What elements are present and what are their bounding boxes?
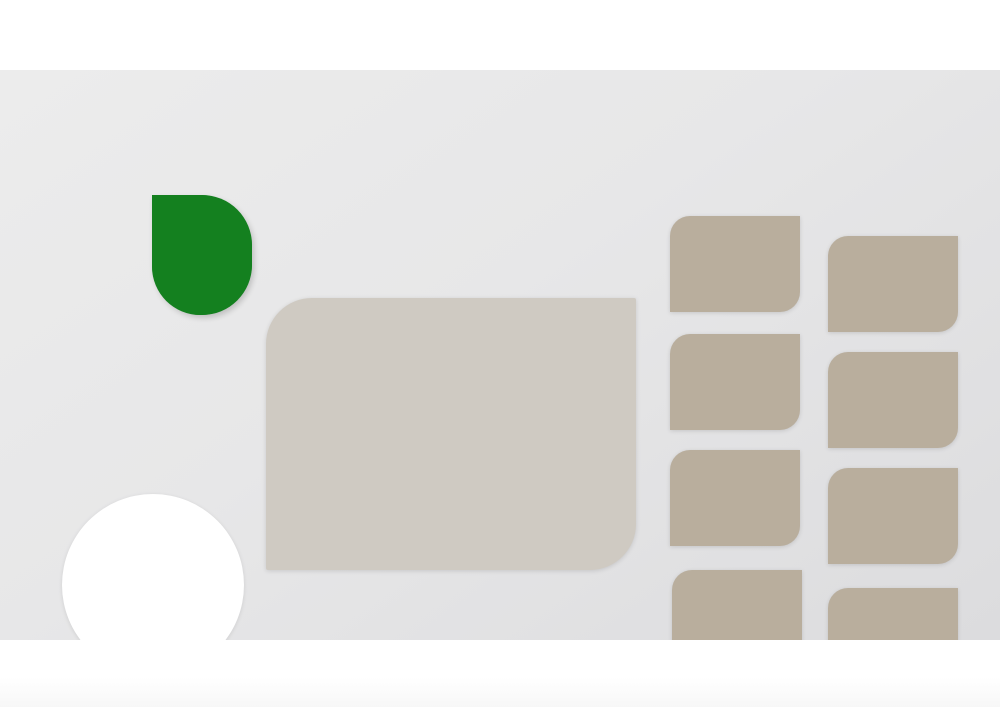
slide-top-margin <box>0 0 1000 70</box>
main-photo-image <box>266 298 636 570</box>
thumbnail-4-image <box>828 352 958 448</box>
thumbnail-8-image <box>828 588 958 640</box>
thumbnail-4 <box>828 352 958 448</box>
thumbnail-5-image <box>670 450 800 546</box>
thumbnail-3 <box>670 334 800 430</box>
thumbnail-1-image <box>670 216 800 312</box>
info-circle <box>62 494 244 640</box>
slide-canvas <box>0 70 1000 640</box>
thumbnail-2 <box>828 236 958 332</box>
thumbnail-6 <box>828 468 958 564</box>
slide-bottom-margin <box>0 641 1000 707</box>
thumbnail-8 <box>828 588 958 640</box>
green-half-circle-shape <box>152 195 252 315</box>
thumbnail-1 <box>670 216 800 312</box>
thumbnail-7 <box>672 570 802 640</box>
thumbnail-7-image <box>672 570 802 640</box>
green-shape-fill <box>152 195 252 315</box>
thumbnail-6-image <box>828 468 958 564</box>
heading-group <box>0 70 300 250</box>
thumbnail-5 <box>670 450 800 546</box>
main-photo <box>266 298 636 570</box>
thumbnail-3-image <box>670 334 800 430</box>
thumbnail-2-image <box>828 236 958 332</box>
presentation-slide <box>0 0 1000 707</box>
